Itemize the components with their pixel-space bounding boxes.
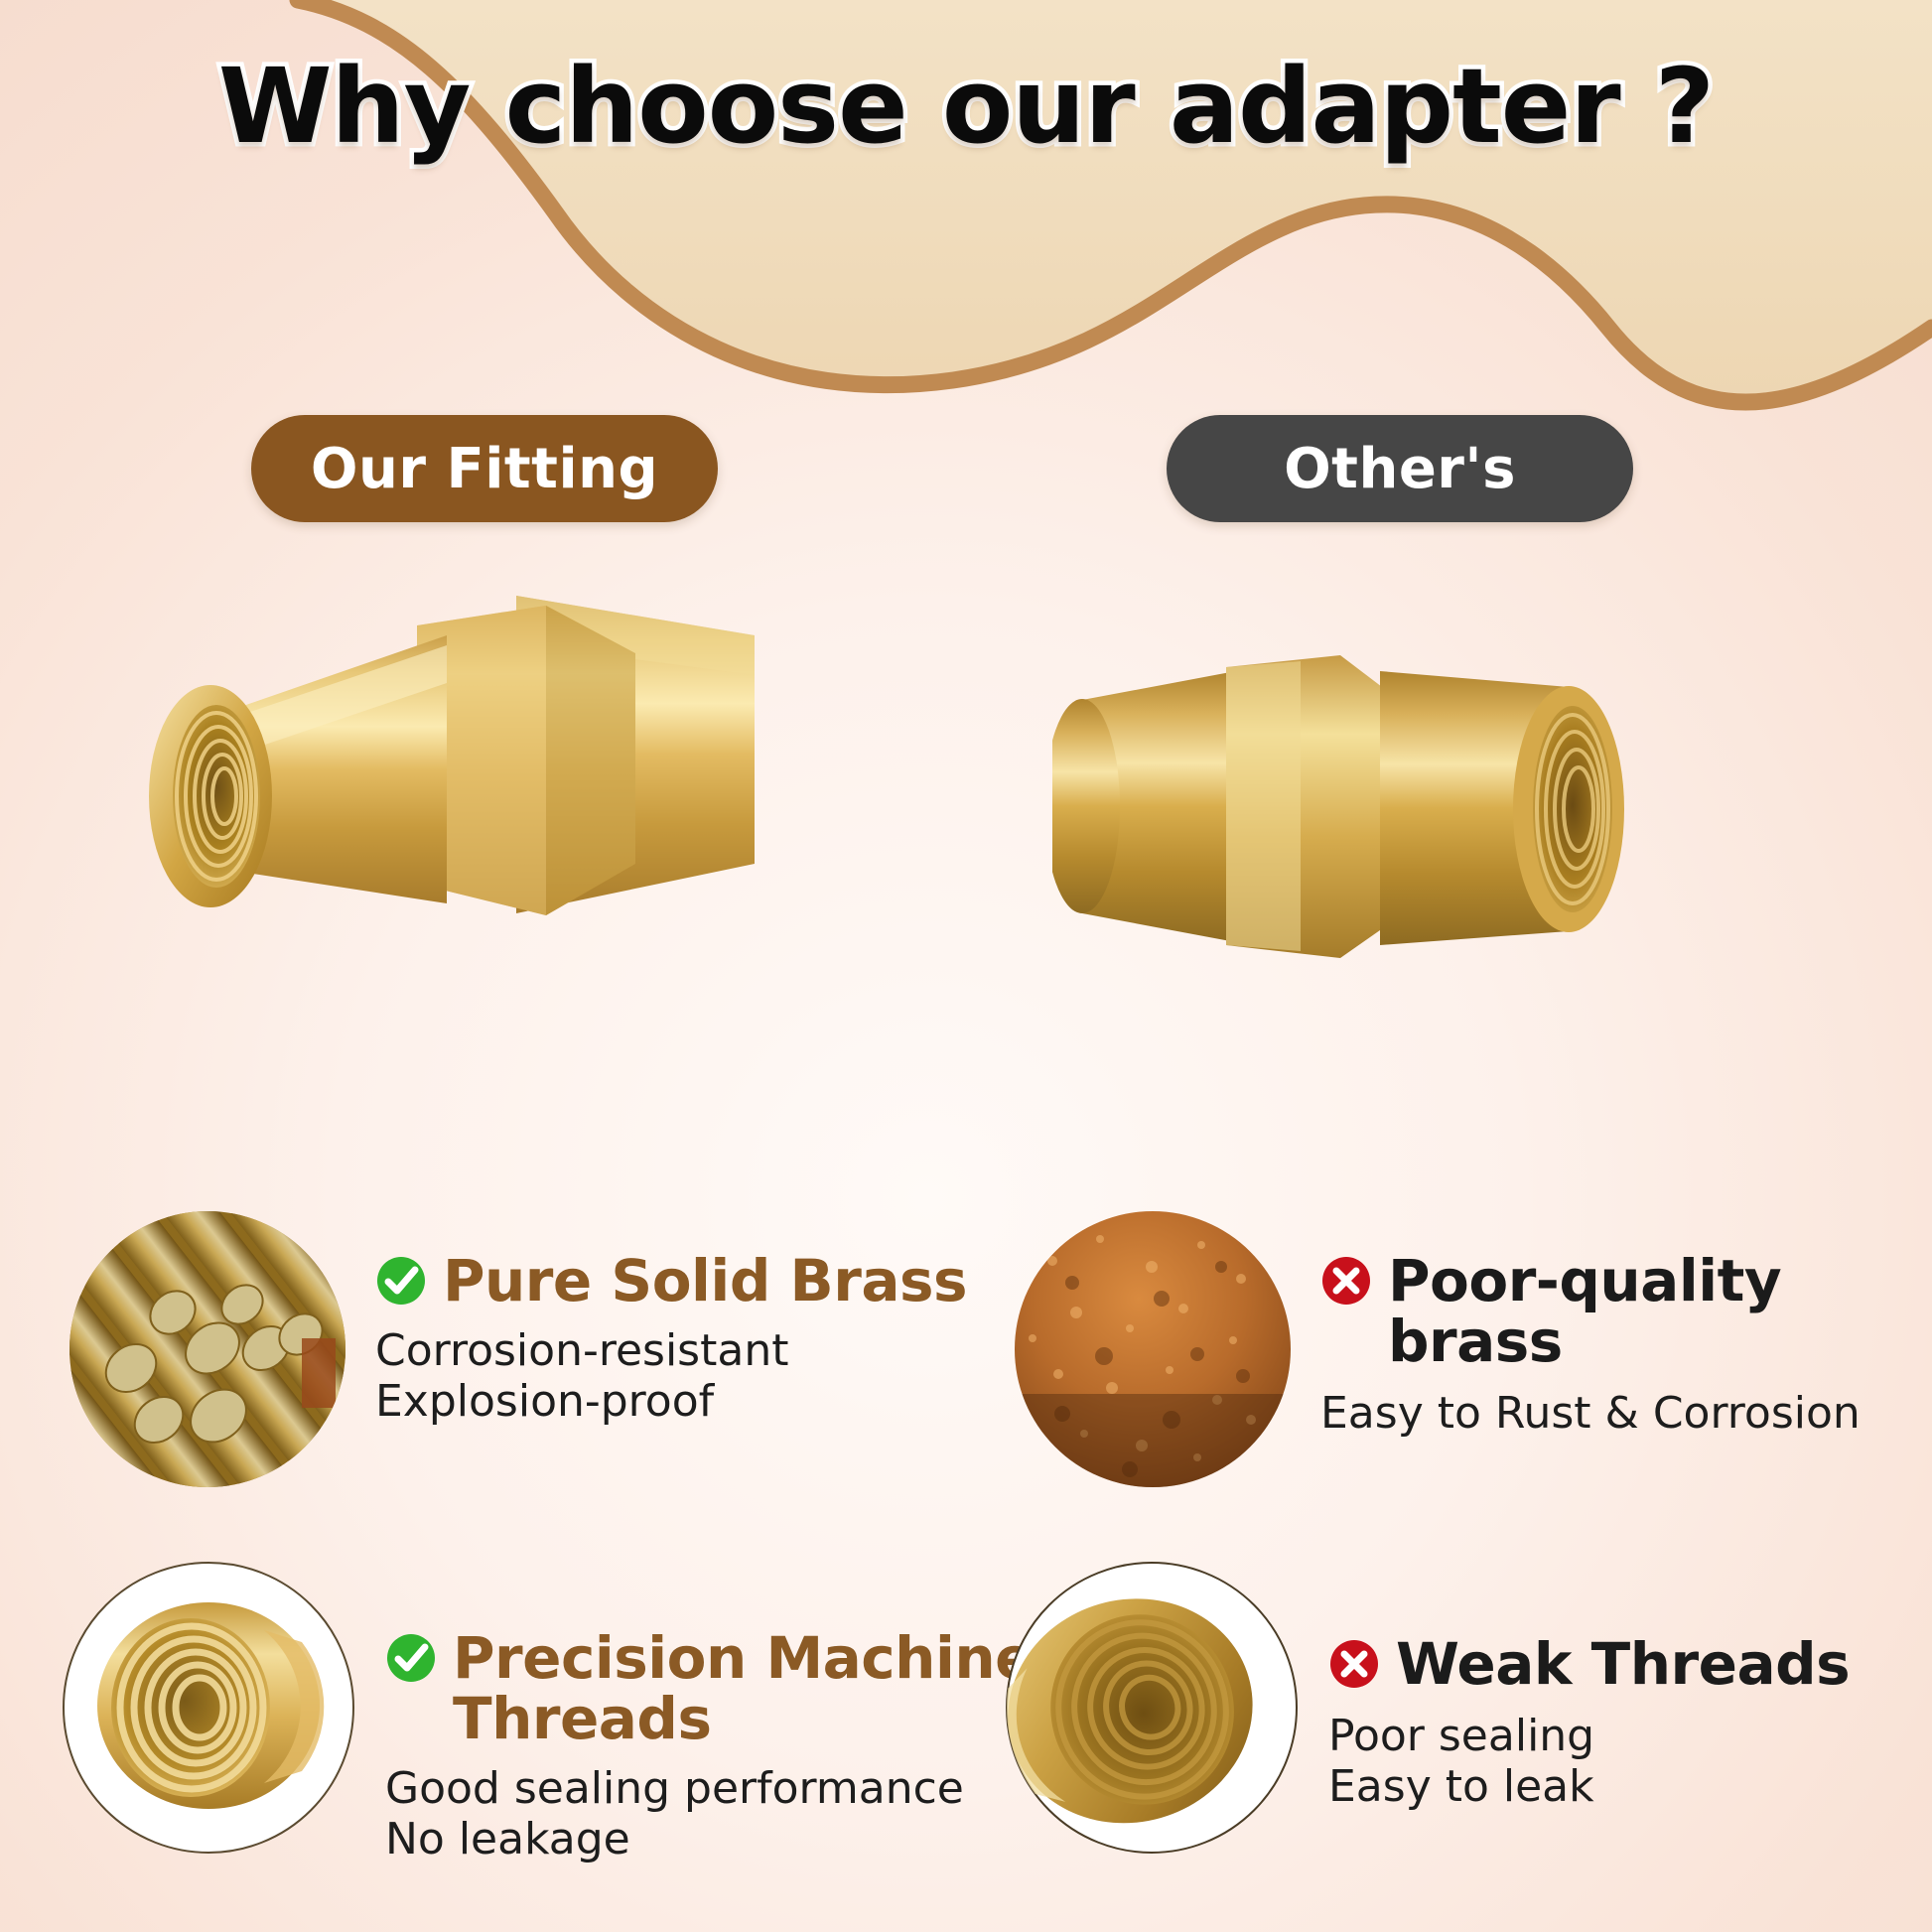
thumbnail-rusted-surface bbox=[1013, 1209, 1293, 1489]
feature-heading: Weak Threads bbox=[1328, 1634, 1850, 1695]
feature-subtext-line: Easy to Rust & Corrosion bbox=[1320, 1388, 1932, 1439]
x-circle-icon bbox=[1328, 1638, 1380, 1690]
feature-subtext: Good sealing performance No leakage bbox=[385, 1763, 1074, 1864]
other-fitting-left-barrel bbox=[1052, 670, 1241, 943]
feature-heading-text: Poor-quality brass bbox=[1388, 1251, 1932, 1372]
x-circle-icon bbox=[1320, 1255, 1372, 1307]
thumbnail-brass-rods bbox=[68, 1209, 347, 1489]
product-photo-other-fitting bbox=[1052, 616, 1688, 1003]
feature-heading-text: Pure Solid Brass bbox=[443, 1251, 967, 1311]
feature-heading: Precision Machined Threads bbox=[385, 1628, 1074, 1749]
pill-label-text: Our Fitting bbox=[311, 437, 658, 501]
other-fitting-right-barrel bbox=[1380, 671, 1624, 945]
feature-row-precision-machined-threads: Precision Machined Threads Good sealing … bbox=[60, 1559, 1074, 1864]
column-label-others: Other's bbox=[1167, 415, 1633, 522]
feature-heading-line1: Precision Machined bbox=[453, 1624, 1074, 1692]
feature-text-block: Precision Machined Threads Good sealing … bbox=[385, 1559, 1074, 1864]
feature-text-block: Weak Threads Poor sealing Easy to leak bbox=[1328, 1559, 1850, 1812]
feature-subtext-line: Explosion-proof bbox=[375, 1376, 967, 1427]
column-label-our-fitting: Our Fitting bbox=[251, 415, 718, 522]
check-circle-icon bbox=[375, 1255, 427, 1307]
product-photo-our-fitting bbox=[119, 566, 814, 1033]
feature-text-block: Poor-quality brass Easy to Rust & Corros… bbox=[1320, 1209, 1932, 1439]
thumbnail-weak-threads bbox=[1003, 1559, 1301, 1857]
fitting-threaded-opening bbox=[149, 685, 272, 907]
feature-heading-text: Weak Threads bbox=[1396, 1634, 1850, 1695]
feature-subtext-line: Poor sealing bbox=[1328, 1711, 1850, 1761]
feature-text-block: Pure Solid Brass Corrosion-resistant Exp… bbox=[375, 1209, 967, 1427]
thumbnail-precision-threads bbox=[60, 1559, 357, 1857]
feature-heading: Poor-quality brass bbox=[1320, 1251, 1932, 1372]
feature-subtext-line: Easy to leak bbox=[1328, 1761, 1850, 1812]
feature-subtext: Poor sealing Easy to leak bbox=[1328, 1711, 1850, 1812]
feature-heading-line2: Threads bbox=[453, 1685, 711, 1752]
feature-subtext: Easy to Rust & Corrosion bbox=[1320, 1388, 1932, 1439]
other-fitting-hex-nut bbox=[1226, 655, 1390, 958]
feature-subtext-line: No leakage bbox=[385, 1814, 1074, 1864]
feature-heading-text: Precision Machined Threads bbox=[453, 1628, 1074, 1749]
feature-subtext-line: Corrosion-resistant bbox=[375, 1325, 967, 1376]
feature-subtext-line: Good sealing performance bbox=[385, 1763, 1074, 1814]
feature-row-pure-solid-brass: Pure Solid Brass Corrosion-resistant Exp… bbox=[68, 1209, 967, 1489]
feature-row-poor-quality-brass: Poor-quality brass Easy to Rust & Corros… bbox=[1013, 1209, 1932, 1489]
fitting-hex-nut bbox=[417, 606, 635, 915]
feature-subtext: Corrosion-resistant Explosion-proof bbox=[375, 1325, 967, 1427]
pill-label-text: Other's bbox=[1284, 437, 1516, 501]
feature-heading: Pure Solid Brass bbox=[375, 1251, 967, 1311]
feature-row-weak-threads: Weak Threads Poor sealing Easy to leak bbox=[1003, 1559, 1850, 1857]
page-title: Why choose our adapter ? bbox=[0, 46, 1932, 167]
check-circle-icon bbox=[385, 1632, 437, 1684]
